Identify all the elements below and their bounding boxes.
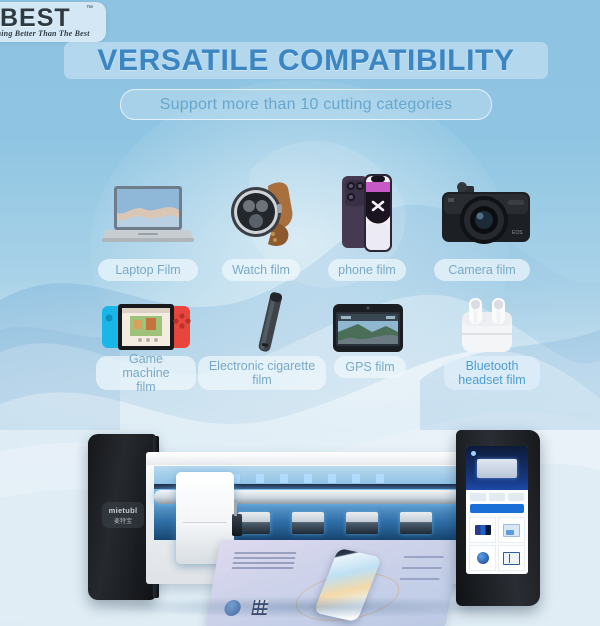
machine-pin [352,474,360,483]
machine-pin [376,474,384,483]
touchscreen-tab[interactable] [470,493,486,501]
cut-tile-icon [503,552,520,565]
category-label-watch: Watch film [222,259,300,281]
promo-mat-text-block [231,552,297,572]
touchscreen-tab[interactable] [489,493,505,501]
earbuds-icon [456,296,518,354]
promo-mat-text-line [233,557,295,559]
touchscreen-device-preview [477,459,517,478]
machine-pressure-rollers [238,512,454,534]
touchscreen-icon-grid [469,517,525,571]
promo-mat-text-line [401,567,441,569]
category-label-gps: GPS film [334,356,406,378]
subtitle-pill: Support more than 10 cutting categories [120,89,492,120]
status-dot-icon [471,451,476,456]
brand-logo: BEST ™ Nothing Better Than The Best [0,2,106,42]
machine-blade-holder [232,514,242,536]
smartwatch-icon [222,176,300,250]
category-label-phone: phone film [328,259,406,281]
e-cigarette-icon [250,288,290,358]
smartphone-icon [340,172,394,254]
machine-pin-row [208,474,453,483]
machine-top-lip [146,452,476,465]
touchscreen-tile-phone[interactable] [469,517,496,543]
brand-tagline: Nothing Better Than The Best [0,29,104,38]
touchscreen-tile-gallery[interactable] [498,517,525,543]
pressure-roller [400,512,432,534]
settings-tile-icon [477,552,489,564]
promo-mat-text-line [231,567,293,569]
promo-mat-text-line [400,578,440,580]
phone-tile-icon [475,525,491,535]
svg-text:EOS: EOS [512,230,523,236]
category-label-bluetooth-headset: Bluetooth headset film [444,356,540,390]
promo-mat-side-text [398,556,444,589]
pressure-roller [292,512,324,534]
category-item-game-machine [100,298,192,354]
promo-mat-text-line [234,552,296,554]
gallery-tile-icon [503,524,520,537]
machine-pin [328,474,336,483]
machine-pin [256,474,264,483]
category-item-camera: EOS [438,178,534,250]
trademark-icon: ™ [86,5,93,12]
category-item-bluetooth-headset [456,296,518,354]
machine-touchscreen[interactable] [466,446,528,574]
game-console-icon [100,298,192,354]
machine-pin [304,474,312,483]
touchscreen-tile-settings[interactable] [469,545,496,571]
promo-mat-text-line [403,556,443,558]
promo-mat-text-line [232,562,294,564]
page-title: VERSATILE COMPATIBILITY [64,42,548,79]
category-label-laptop: Laptop Film [98,259,198,281]
category-item-laptop [98,180,198,248]
category-item-watch [222,176,300,250]
machine-right-endcap [456,430,540,606]
category-item-phone [340,172,394,254]
machine-brand-name: mietubl [109,506,138,515]
pressure-roller [346,512,378,534]
touchscreen-menu [466,490,528,574]
laptop-icon [98,180,198,248]
machine-brand-badge: mietubl 麦特宝 [102,502,144,528]
category-label-camera: Camera film [434,259,530,281]
touchscreen-preview-area [466,446,528,490]
machine-brand-name-cn: 麦特宝 [114,516,132,525]
camera-icon: EOS [438,178,534,250]
machine-pin [280,474,288,483]
gps-navigator-icon [332,302,404,354]
touchscreen-tile-cut[interactable] [498,545,525,571]
category-label-game-machine: Game machine film [96,356,196,390]
pressure-roller [238,512,270,534]
category-item-gps [332,302,404,354]
machine-shadow [96,596,526,618]
product-poster: BEST ™ Nothing Better Than The Best VERS… [0,0,600,626]
category-item-e-cigarette [250,288,290,358]
touchscreen-tab-bar[interactable] [470,493,524,501]
touchscreen-primary-button[interactable] [470,504,524,513]
touchscreen-tab[interactable] [508,493,524,501]
category-label-e-cigarette: Electronic cigarette film [198,356,326,390]
